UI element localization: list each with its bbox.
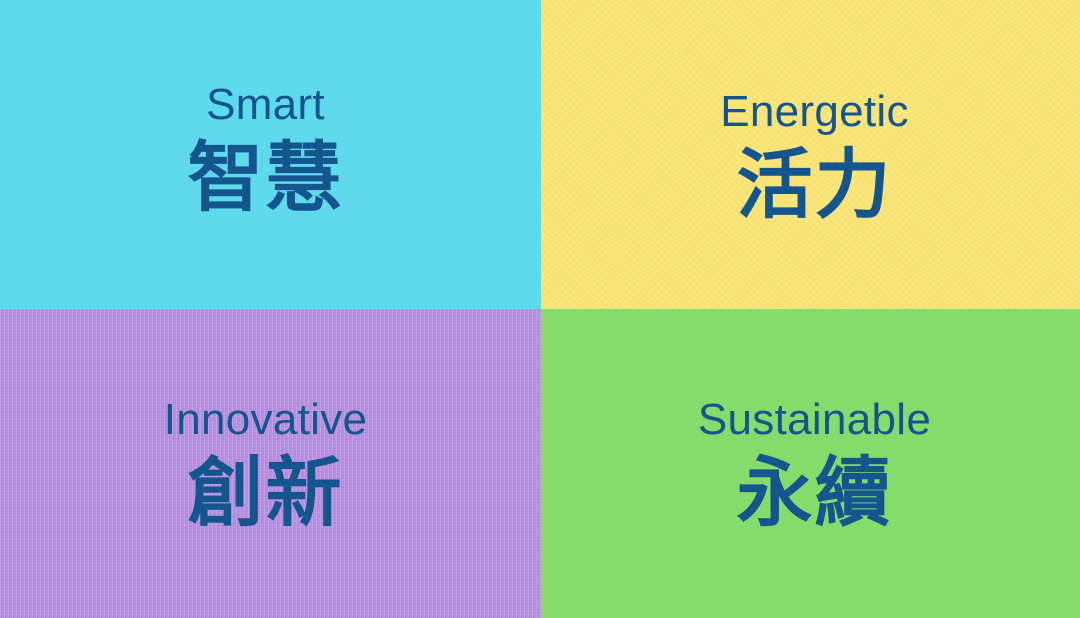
- quadrant-label-en-smart: Smart: [206, 83, 325, 127]
- brand-values-poster: Smart 智慧 Energetic 活力 Innovative 創新 Sust…: [0, 0, 1080, 618]
- quadrant-label-group-innovative: Innovative 創新: [164, 398, 368, 532]
- quadrant-label-zh-innovative: 創新: [187, 456, 343, 532]
- quadrant-label-group-smart: Smart 智慧: [188, 83, 344, 217]
- quadrant-label-zh-smart: 智慧: [188, 141, 344, 217]
- quadrant-label-en-innovative: Innovative: [164, 398, 368, 442]
- quadrant-sustainable: Sustainable 永續: [541, 309, 1080, 618]
- quadrant-label-group-energetic: Energetic 活力: [720, 90, 909, 224]
- quadrant-energetic: Energetic 活力: [541, 0, 1080, 309]
- quadrant-label-en-sustainable: Sustainable: [698, 398, 931, 442]
- quadrant-label-en-energetic: Energetic: [720, 90, 909, 134]
- quadrant-label-zh-sustainable: 永續: [737, 456, 893, 532]
- quadrant-innovative: Innovative 創新: [0, 309, 541, 618]
- quadrant-label-group-sustainable: Sustainable 永續: [698, 398, 931, 532]
- quadrant-smart: Smart 智慧: [0, 0, 541, 309]
- quadrant-label-zh-energetic: 活力: [737, 148, 893, 224]
